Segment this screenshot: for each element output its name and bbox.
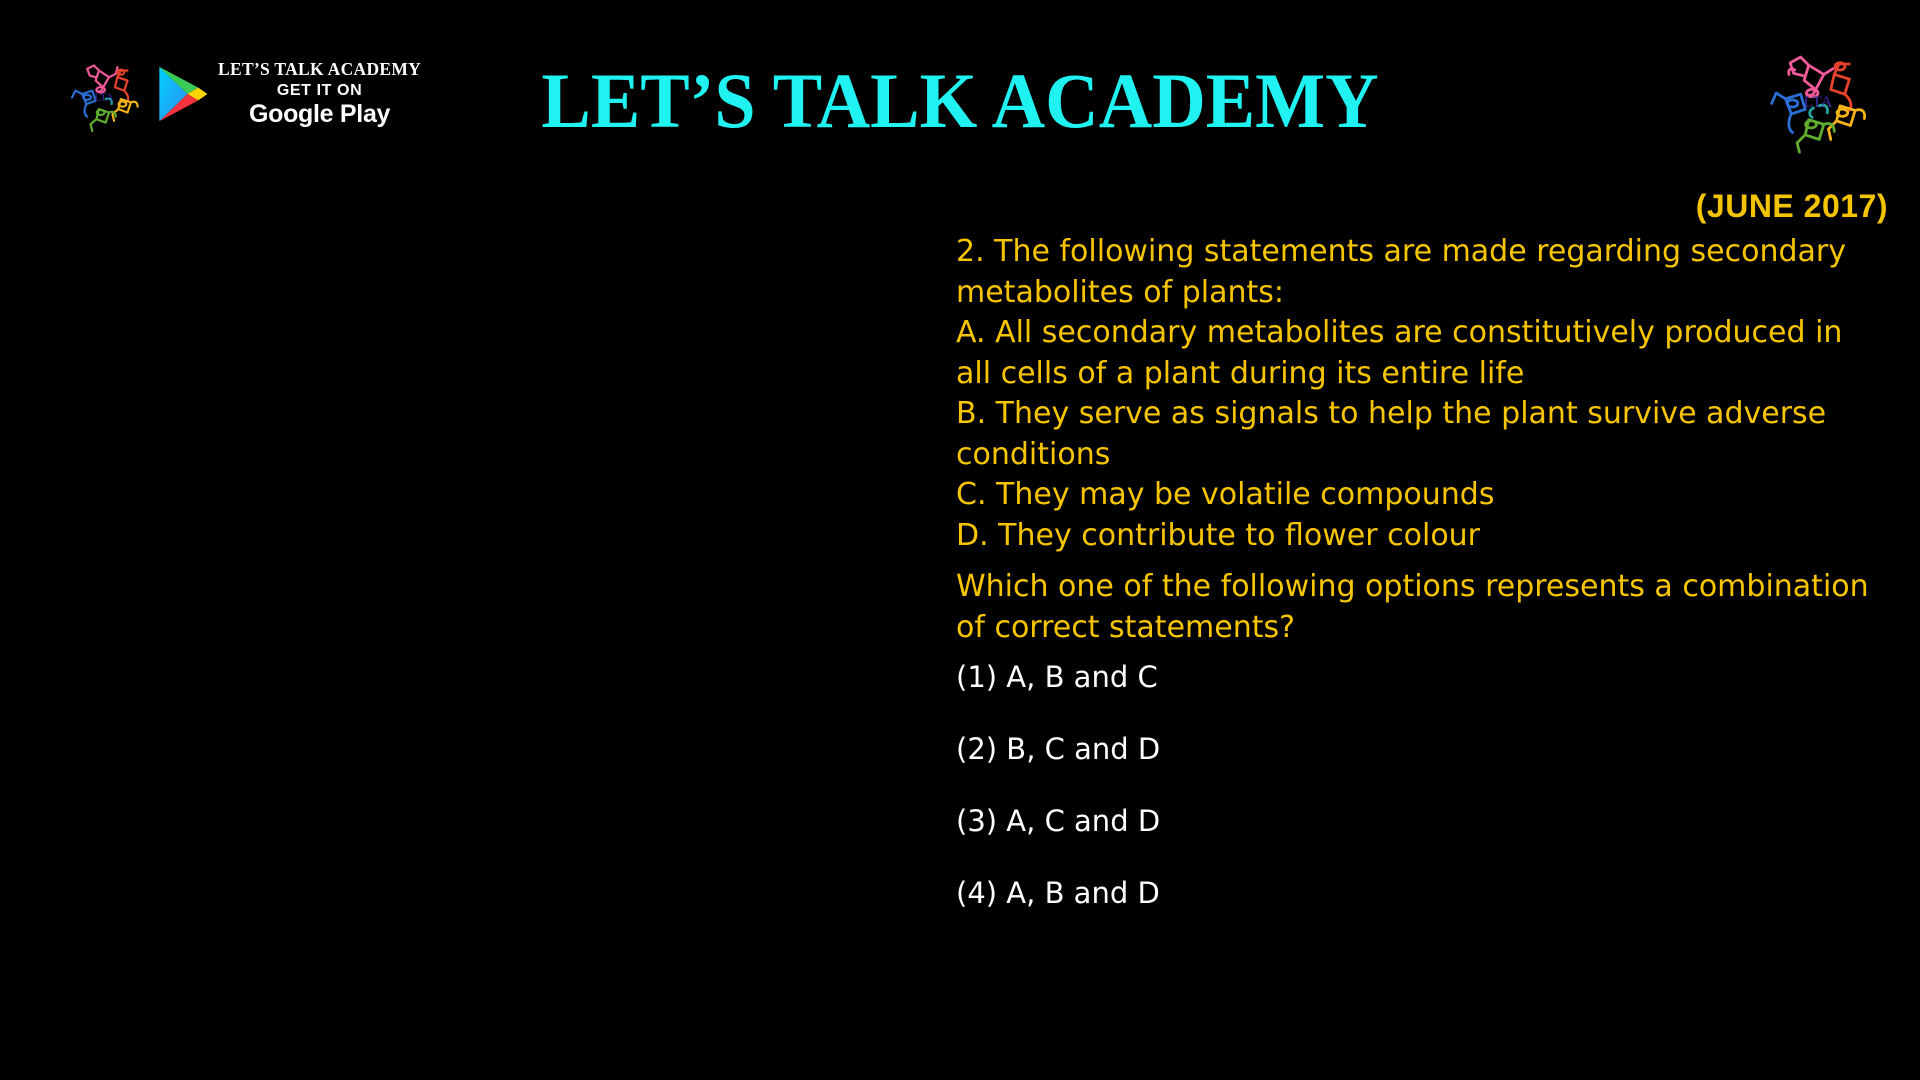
statement-line-b-cont: conditions [956,435,1876,476]
page-title: LET’S TALK ACADEMY [48,62,1872,140]
statement-line-a-cont: all cells of a plant during its entire l… [956,354,1876,395]
answer-option-1[interactable]: (1) A, B and C [956,663,1876,735]
statement-line-d: D. They contribute to flower colour [956,516,1876,557]
slide-header: LTA LET’S TALK ACADEMY GET IT ON Google … [0,0,1920,185]
statement-line-a: A. All secondary metabolites are constit… [956,313,1876,354]
lta-ribbon-logo-icon: LTA [1758,42,1878,158]
question-ask: Which one of the following options repre… [956,567,1876,648]
logo-center-text: LTA [1804,93,1833,111]
statement-line-c: C. They may be volatile compounds [956,475,1876,516]
answer-option-4[interactable]: (4) A, B and D [956,879,1876,951]
answer-option-2[interactable]: (2) B, C and D [956,735,1876,807]
exam-session-tag: (JUNE 2017) [1696,188,1888,225]
question-statements: A. All secondary metabolites are constit… [956,313,1876,556]
question-stem-line: 2. The following statements are made reg… [956,232,1876,273]
answer-options-list: (1) A, B and C (2) B, C and D (3) A, C a… [956,663,1876,951]
question-ask-line: of correct statements? [956,608,1876,649]
question-stem: 2. The following statements are made reg… [956,232,1876,313]
question-ask-line: Which one of the following options repre… [956,567,1876,608]
statement-line-b: B. They serve as signals to help the pla… [956,394,1876,435]
answer-option-3[interactable]: (3) A, C and D [956,807,1876,879]
question-stem-line: metabolites of plants: [956,273,1876,314]
question-block: 2. The following statements are made reg… [956,232,1876,648]
